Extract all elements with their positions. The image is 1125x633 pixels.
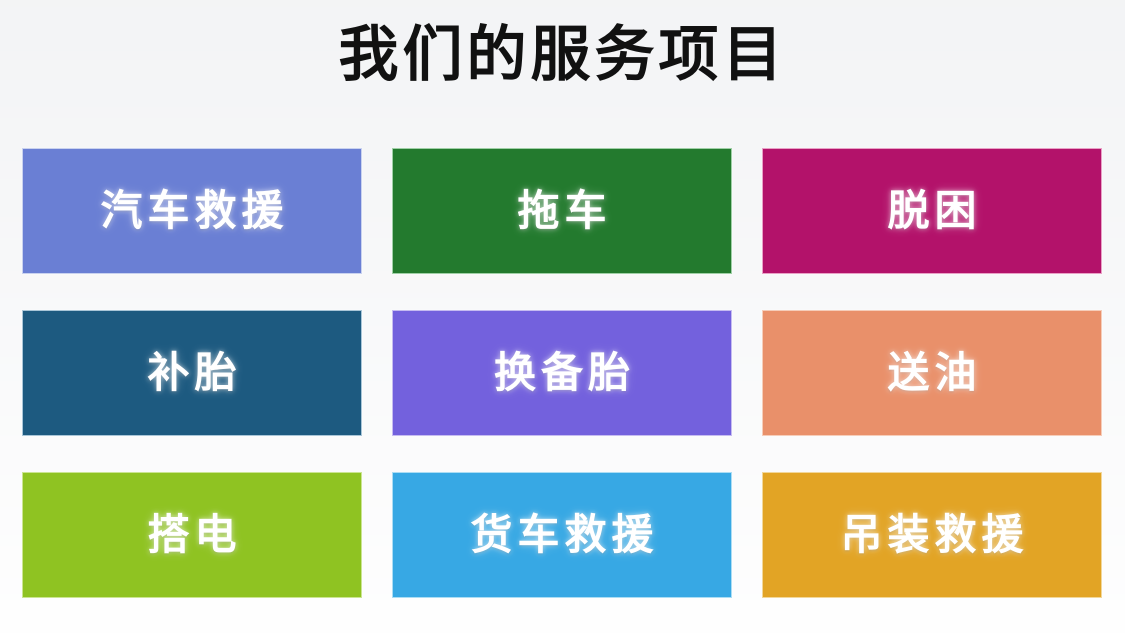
service-tile[interactable]: 汽车救援 xyxy=(22,148,362,274)
service-tile[interactable]: 送油 xyxy=(762,310,1102,436)
service-tile-label: 送油 xyxy=(882,352,981,394)
service-tile-label: 补胎 xyxy=(142,352,241,394)
page-title-text: 我们的服务项目 xyxy=(339,22,787,88)
service-tile-label: 拖车 xyxy=(512,190,611,232)
service-tile-label: 搭电 xyxy=(142,514,241,556)
service-tile[interactable]: 搭电 xyxy=(22,472,362,598)
page-title: 我们的服务项目 xyxy=(0,22,1125,88)
service-tile-label: 货车救援 xyxy=(465,514,658,556)
service-tile[interactable]: 换备胎 xyxy=(392,310,732,436)
service-tile-label: 换备胎 xyxy=(489,352,635,394)
service-tile[interactable]: 货车救援 xyxy=(392,472,732,598)
service-tile-label: 汽车救援 xyxy=(95,190,288,232)
service-tile[interactable]: 补胎 xyxy=(22,310,362,436)
service-tile[interactable]: 吊装救援 xyxy=(762,472,1102,598)
service-tile-grid: 汽车救援拖车脱困补胎换备胎送油搭电货车救援吊装救援 xyxy=(22,148,1102,598)
service-items-poster: 我们的服务项目 汽车救援拖车脱困补胎换备胎送油搭电货车救援吊装救援 xyxy=(0,0,1125,633)
service-tile-label: 吊装救援 xyxy=(835,514,1028,556)
service-tile[interactable]: 拖车 xyxy=(392,148,732,274)
service-tile[interactable]: 脱困 xyxy=(762,148,1102,274)
service-tile-label: 脱困 xyxy=(882,190,981,232)
